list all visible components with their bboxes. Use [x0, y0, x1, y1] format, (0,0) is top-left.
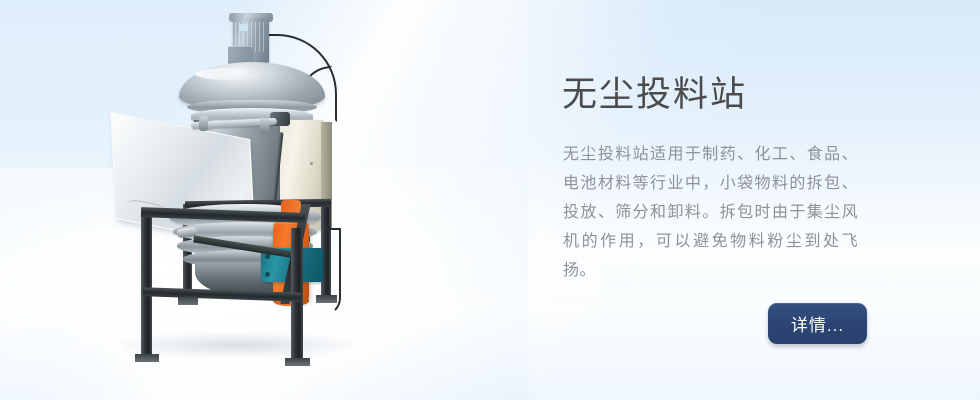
page-title: 无尘投料站: [562, 73, 747, 117]
power-cable-lower: [323, 228, 341, 316]
frame-leg-front-left: [141, 216, 152, 356]
product-image: [95, 4, 385, 364]
frame-foot-back-left: [178, 297, 198, 305]
control-cabinet-fastener: [310, 162, 313, 165]
lid-hinge-knuckle-left: [199, 116, 208, 131]
bracket-bolt-lower: [265, 272, 270, 277]
lid-hinge-knuckle-right: [260, 118, 269, 133]
product-description: 无尘投料站适用于制药、化工、食品、电池材料等行业中，小袋物料的拆包、投放、筛分和…: [563, 140, 858, 285]
product-banner: 无尘投料站 无尘投料站适用于制药、化工、食品、电池材料等行业中，小袋物料的拆包、…: [0, 0, 980, 400]
dust-hood-highlight: [195, 68, 265, 80]
frame-foot-front-left: [135, 354, 159, 362]
frame-foot-front-right: [285, 358, 310, 366]
top-motor-nameplate: [239, 24, 248, 31]
detail-button[interactable]: 详情...: [768, 303, 867, 344]
banner-content: 无尘投料站 无尘投料站适用于制药、化工、食品、电池材料等行业中，小袋物料的拆包、…: [562, 0, 922, 400]
bracket-bolt-upper: [265, 254, 270, 259]
